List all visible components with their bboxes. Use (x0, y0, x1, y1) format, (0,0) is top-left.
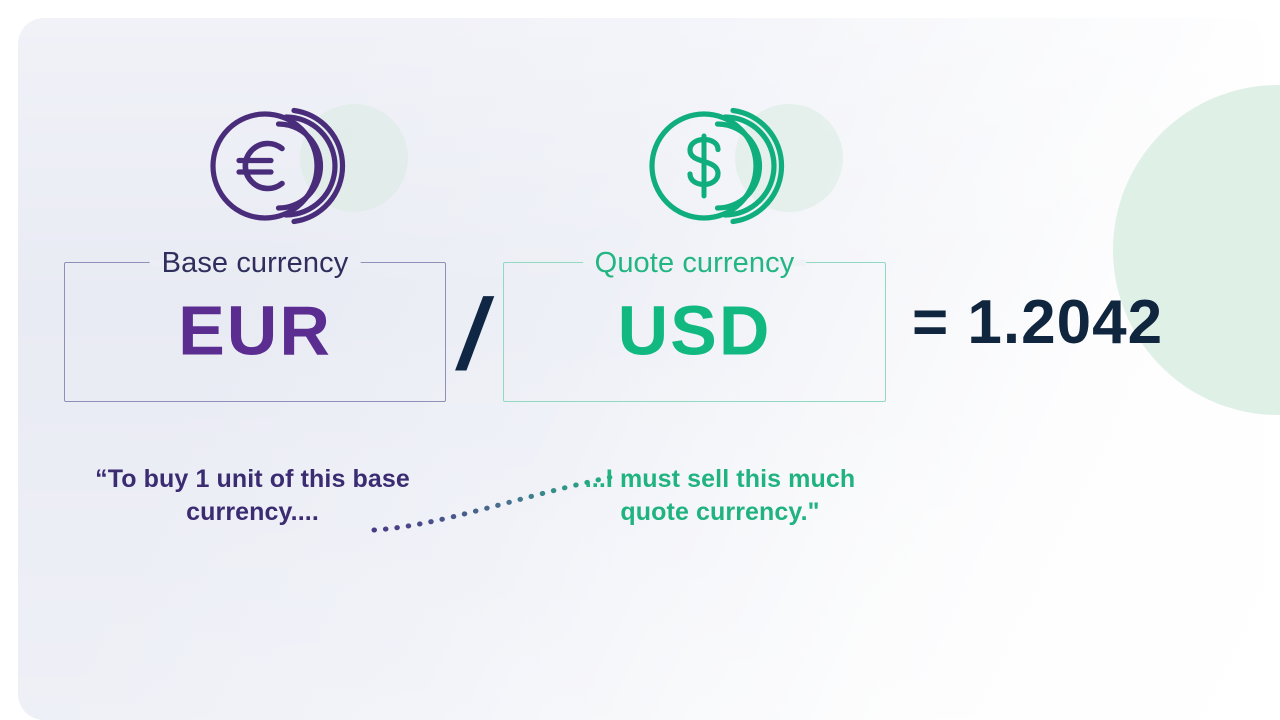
quote-currency-code: USD (504, 295, 885, 367)
dollar-coin-stack-icon (645, 96, 785, 236)
quote-currency-legend: Quote currency (583, 248, 807, 278)
infographic-stage: Base currency EUR / Quote currency USD =… (0, 0, 1280, 720)
base-currency-field[interactable]: Base currency EUR (64, 262, 446, 402)
euro-coin-stack-icon (206, 96, 346, 236)
pair-separator-slash: / (452, 277, 496, 393)
exchange-rate-result: = 1.2042 (912, 288, 1163, 358)
quote-currency-caption: ...I must sell this much quote currency.… (548, 463, 892, 529)
base-currency-legend: Base currency (150, 248, 361, 278)
quote-currency-field[interactable]: Quote currency USD (503, 262, 886, 402)
base-currency-code: EUR (65, 295, 445, 367)
